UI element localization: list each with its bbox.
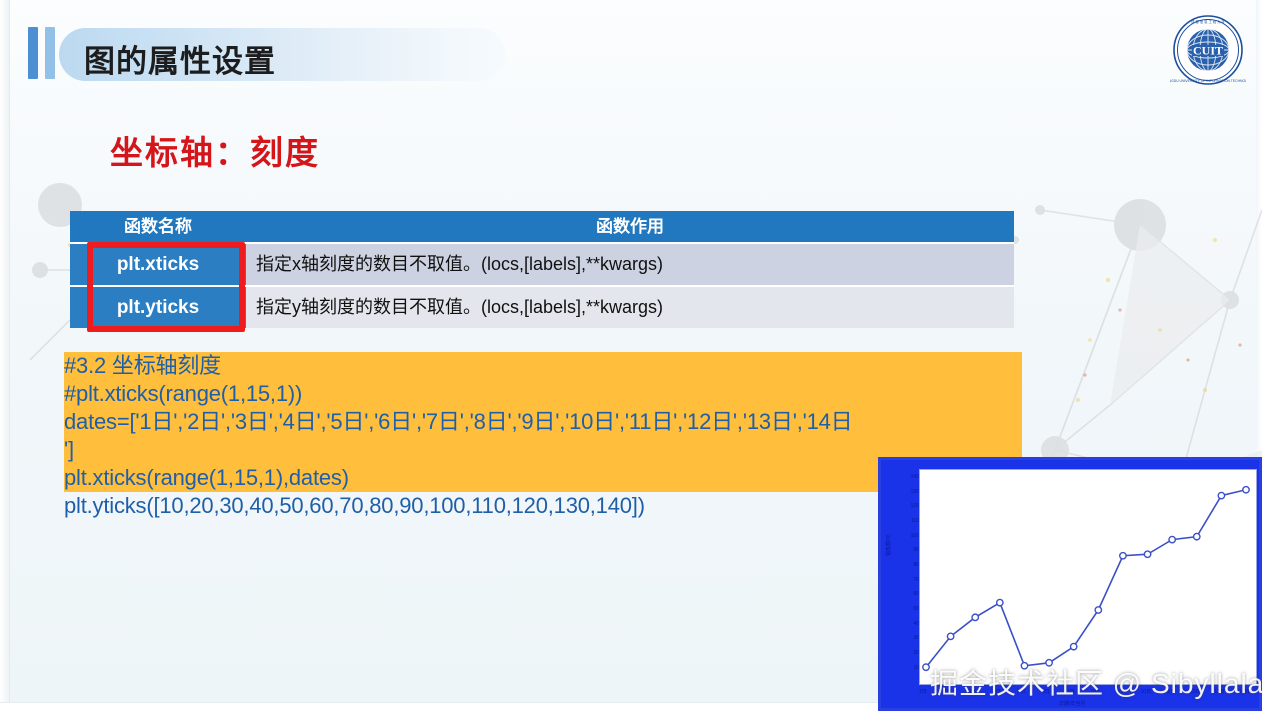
- chart-y-tick: 120: [911, 503, 919, 509]
- section-subtitle: 坐标轴：刻度: [110, 126, 320, 174]
- cell-description-xticks: 指定x轴刻度的数目不取值。(locs,[labels],**kwargs): [246, 244, 1014, 285]
- chart-y-tick: 130: [911, 489, 919, 495]
- page-title: 图的属性设置: [84, 36, 276, 81]
- table-header-function-purpose: 函数作用: [246, 211, 1014, 242]
- accent-bar-primary: [28, 27, 38, 79]
- code-line: #plt.xticks(range(1,15,1)): [64, 380, 1022, 408]
- code-line: dates=['1日','2日','3日','4日','5日','6日','7日…: [64, 408, 1022, 436]
- chart-y-tick: 140: [911, 474, 919, 480]
- watermark-text: 掘金技术社区 @ Sibyllala: [930, 662, 1262, 702]
- cell-description-yticks: 指定y轴刻度的数目不取值。(locs,[labels],**kwargs): [246, 287, 1014, 328]
- chart-y-tick: 110: [911, 518, 919, 524]
- red-highlight-rectangle: [87, 242, 245, 332]
- svg-text:CHENGDU UNIVERSITY OF INFORMAT: CHENGDU UNIVERSITY OF INFORMATION TECHNO…: [1170, 79, 1246, 83]
- code-line: #3.2 坐标轴刻度: [64, 352, 1022, 380]
- slide-left-edge: [0, 0, 10, 711]
- chart-y-tick-labels: 102030405060708090100110120130140: [899, 469, 919, 685]
- table-header-row: 函数名称 函数作用: [70, 211, 1014, 242]
- svg-text:成 都 信 息 工 程 大 学: 成 都 信 息 工 程 大 学: [1191, 19, 1225, 24]
- chart-x-tick: 1日: [919, 688, 927, 695]
- line-chart-svg: [920, 470, 1256, 684]
- chart-y-tick: 100: [911, 533, 919, 539]
- presentation-slide: 图的属性设置 坐标轴：刻度 CUIT 成 都 信 息 工 程 大 学 CHENG…: [0, 0, 1262, 711]
- table-header-function-name: 函数名称: [70, 211, 246, 242]
- cuit-university-logo-icon: CUIT 成 都 信 息 工 程 大 学 CHENGDU UNIVERSITY …: [1170, 12, 1246, 88]
- header-accent-bars: [28, 27, 55, 79]
- chart-y-axis-label: 销售额/元: [885, 535, 892, 556]
- chart-plot-area: [919, 469, 1257, 685]
- svg-text:CUIT: CUIT: [1193, 44, 1223, 58]
- accent-bar-secondary: [45, 27, 55, 79]
